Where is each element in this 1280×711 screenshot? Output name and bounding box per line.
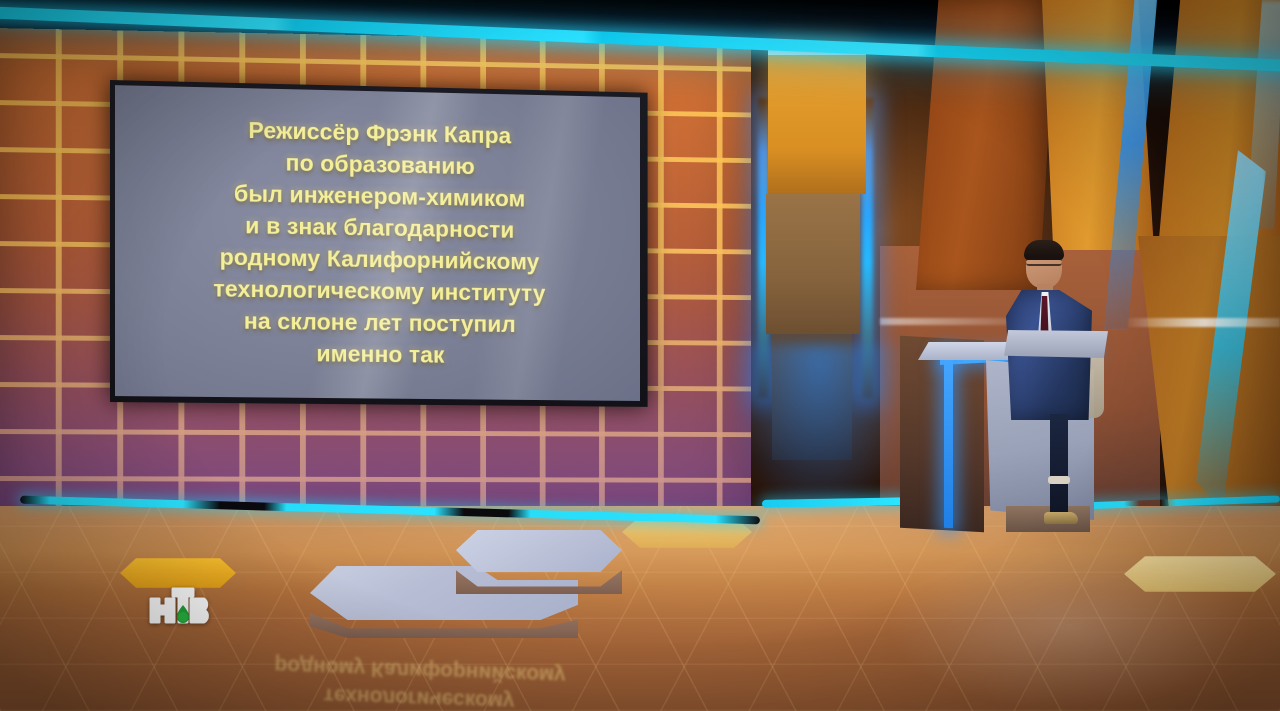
glasses-icon — [1026, 258, 1062, 266]
ntv-logo-icon — [146, 583, 216, 631]
screen-question-text: Режиссёр Фрэнк Капра по образованию был … — [115, 111, 640, 373]
projection-screen: Режиссёр Фрэнк Капра по образованию был … — [115, 85, 640, 401]
presenter-legs — [1050, 414, 1068, 518]
ntv-logo — [146, 583, 216, 631]
podium-wood-panel — [900, 336, 984, 532]
column-top-segment — [768, 44, 866, 194]
wall-light-strip-center — [880, 318, 1010, 325]
column-middle-segment — [766, 194, 860, 334]
screen-line-8: именно так — [115, 335, 640, 373]
presenter — [1000, 236, 1104, 536]
presenter-shoe — [1044, 512, 1078, 524]
stage-platform-small — [456, 530, 622, 594]
projection-screen-bezel: Режиссёр Фрэнк Капра по образованию был … — [110, 80, 648, 407]
podium-neon-vertical — [944, 352, 953, 528]
presenter-footrest — [1048, 476, 1070, 484]
lectern-surface — [1004, 330, 1108, 358]
center-column — [758, 44, 874, 534]
presenter-hair — [1024, 240, 1064, 260]
studio-broadcast-frame: Режиссёр Фрэнк Капра по образованию был … — [0, 0, 1280, 711]
wall-light-strip-right — [1128, 318, 1280, 327]
platform-small-top — [456, 530, 622, 572]
floor-hex-tile-yellow-right — [1124, 556, 1276, 592]
